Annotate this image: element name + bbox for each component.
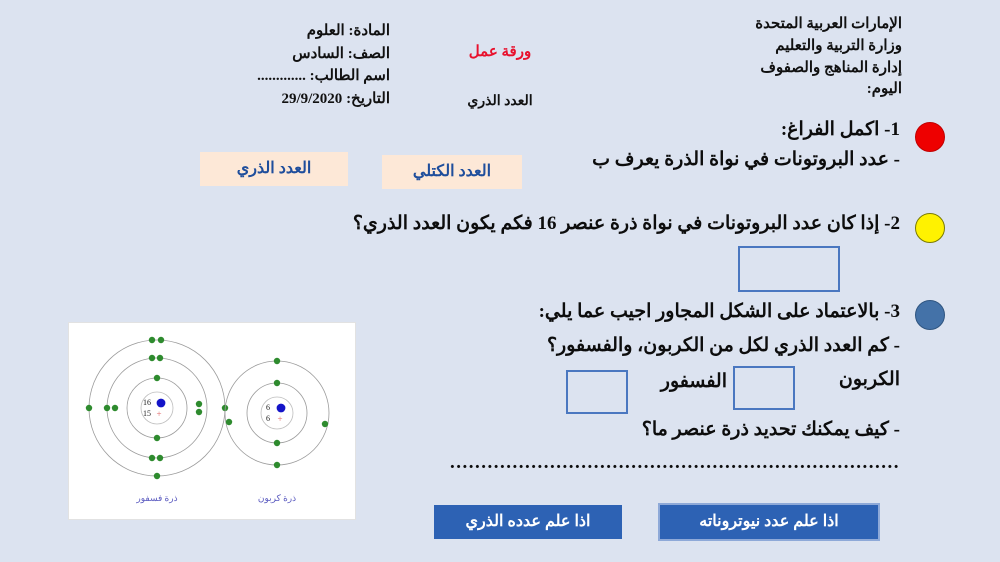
worksheet-page: الإمارات العربية المتحدة وزارة التربية و… (0, 0, 1000, 562)
info-student-name: اسم الطالب: ............. (257, 65, 390, 88)
ministry-line-day: اليوم: (755, 79, 902, 101)
label-phosphorus: الفسفور (661, 370, 727, 393)
student-info-block: المادة: العلوم الصف: السادس اسم الطالب: … (257, 20, 390, 110)
question-3-sub1: - كم العدد الذري لكل من الكربون، والفسفو… (547, 334, 900, 357)
ministry-line-ministry: وزارة التربية والتعليم (755, 36, 902, 58)
question-3-sub2: - كيف يمكنك تحديد ذرة عنصر ما؟ (642, 418, 900, 441)
info-grade: الصف: السادس (257, 43, 390, 66)
atomic-number-button[interactable]: اذا علم عدده الذري (434, 505, 622, 539)
carbon-answer-box[interactable] (733, 366, 795, 410)
svg-text:6: 6 (266, 414, 270, 423)
question-2-answer-box[interactable] (738, 246, 840, 292)
svg-text:15: 15 (143, 409, 151, 418)
info-subject: المادة: العلوم (257, 20, 390, 43)
question-1-heading: 1- اكمل الفراغ: (781, 118, 900, 141)
question-3-heading: 3- بالاعتماد على الشكل المجاور اجيب عما … (539, 300, 900, 323)
ministry-header: الإمارات العربية المتحدة وزارة التربية و… (755, 14, 902, 101)
question-2-heading: 2- إذا كان عدد البروتونات في نواة ذرة عن… (353, 212, 900, 235)
neutrons-button[interactable]: اذا علم عدد نيوتروناته (658, 503, 880, 541)
bullet-yellow-icon (915, 213, 945, 243)
worksheet-subtitle: العدد الذري (380, 93, 620, 110)
svg-text:6: 6 (266, 403, 270, 412)
carbon-label: ذرة كربون (258, 493, 296, 504)
ministry-line-country: الإمارات العربية المتحدة (755, 14, 902, 36)
svg-text:+: + (277, 414, 282, 424)
bullet-blue-icon (915, 300, 945, 330)
choice-mass-number[interactable]: العدد الكتلي (382, 155, 522, 189)
question-1-prompt: - عدد البروتونات في نواة الذرة يعرف ب (592, 148, 900, 171)
label-carbon: الكربون (839, 368, 900, 391)
atom-diagram-figure: 16 15 + ذرة فس (68, 322, 356, 520)
worksheet-heading: ورقة عمل العدد الذري (380, 42, 620, 110)
svg-text:+: + (156, 409, 161, 419)
question-3-answer-line[interactable]: ........................................… (430, 452, 900, 474)
ministry-line-department: إدارة المناهج والصفوف (755, 58, 902, 80)
svg-text:16: 16 (143, 398, 151, 407)
choice-atomic-number[interactable]: العدد الذري (200, 152, 348, 186)
worksheet-title: ورقة عمل (380, 42, 620, 61)
bullet-red-icon (915, 122, 945, 152)
phosphorus-label: ذرة فسفور (135, 493, 177, 504)
phosphorus-answer-box[interactable] (566, 370, 628, 414)
info-date: التاريخ: 29/9/2020 (257, 88, 390, 111)
